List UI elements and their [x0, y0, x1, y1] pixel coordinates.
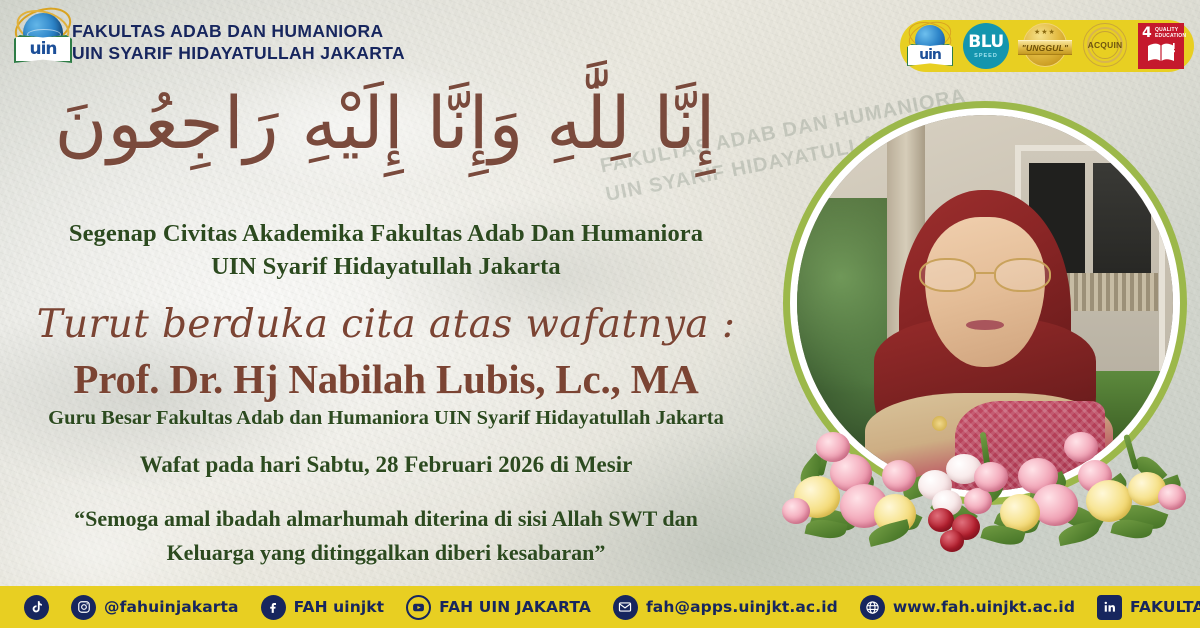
email-address: fah@apps.uinjkt.ac.id	[646, 598, 838, 616]
globe-icon[interactable]	[860, 595, 885, 620]
acquin-badge: ACQUIN	[1081, 23, 1129, 69]
unggul-ribbon: "UNGGUL"	[1018, 40, 1072, 55]
condolence-banner: FAKULTAS ADAB DAN HUMANIORA UIN SYARIF H…	[0, 0, 1200, 628]
unggul-stars-icon: ★★★	[1034, 28, 1056, 36]
institution-line-1: Segenap Civitas Akademika Fakultas Adab …	[0, 218, 772, 251]
sdg-quality-education-badge: 4 QUALITY EDUCATION	[1138, 23, 1184, 69]
sdg-label: QUALITY EDUCATION	[1155, 27, 1186, 40]
uin-logo-badge: uin	[906, 23, 954, 69]
faculty-title-block: FAKULTAS ADAB DAN HUMANIORA UIN SYARIF H…	[72, 20, 405, 65]
deceased-position: Guru Besar Fakultas Adab dan Humaniora U…	[0, 406, 772, 432]
passing-details: Wafat pada hari Sabtu, 28 Februari 2026 …	[0, 451, 772, 480]
footer-item-tiktok[interactable]	[24, 595, 49, 620]
youtube-icon[interactable]	[406, 595, 431, 620]
footer-item-email[interactable]: fah@apps.uinjkt.ac.id	[613, 595, 838, 620]
footer-item-website[interactable]: www.fah.uinjkt.ac.id	[860, 595, 1075, 620]
accreditation-badge-pill: uin BLU SPEED ★★★ "UNGGUL" ACQUIN 4	[900, 20, 1194, 72]
prayer-line-2: Keluarga yang ditinggalkan diberi kesaba…	[0, 536, 772, 569]
linkedin-icon[interactable]	[1097, 595, 1122, 620]
portrait-eyeglasses-icon	[919, 258, 1051, 292]
badge-uin-label: uin	[911, 47, 949, 63]
linkedin-page: FAKULTAS ADAB DAN HUMANIORA	[1130, 598, 1200, 616]
arabic-calligraphy: إِنَّا لِلَّٰهِ وَإِنَّا إِلَيْهِ رَاجِع…	[0, 82, 770, 165]
social-media-footer: @fahuinjakarta FAH uinjkt FAH UIN JAKART…	[0, 586, 1200, 628]
instagram-icon[interactable]	[71, 595, 96, 620]
youtube-channel: FAH UIN JAKARTA	[439, 598, 591, 616]
banner-header: uin FAKULTAS ADAB DAN HUMANIORA UIN SYAR…	[0, 0, 1200, 88]
prayer-line-1: “Semoga amal ibadah almarhumah diterina …	[0, 502, 772, 535]
footer-item-facebook[interactable]: FAH uinjkt	[261, 595, 385, 620]
institution-line-2: UIN Syarif Hidayatullah Jakarta	[0, 251, 772, 284]
university-name: UIN SYARIF HIDAYATULLAH JAKARTA	[72, 42, 405, 64]
unggul-label: "UNGGUL"	[1022, 43, 1069, 53]
logo-wordmark: uin	[20, 39, 66, 59]
blu-label: BLU	[968, 34, 1004, 51]
instagram-handle: @fahuinjakarta	[104, 598, 239, 616]
sdg-number: 4	[1142, 26, 1152, 40]
condolence-phrase: Turut berduka cita atas wafatnya :	[0, 303, 772, 347]
deceased-name: Prof. Dr. Hj Nabilah Lubis, Lc., MA	[0, 357, 772, 403]
footer-item-instagram[interactable]: @fahuinjakarta	[71, 595, 239, 620]
blu-sublabel: SPEED	[974, 53, 998, 59]
footer-item-youtube[interactable]: FAH UIN JAKARTA	[406, 595, 591, 620]
footer-item-linkedin[interactable]: FAKULTAS ADAB DAN HUMANIORA	[1097, 595, 1200, 620]
floral-wreath-decoration	[782, 432, 1194, 567]
sdg-open-book-icon	[1146, 42, 1176, 62]
tiktok-icon[interactable]	[24, 595, 49, 620]
faculty-name: FAKULTAS ADAB DAN HUMANIORA	[72, 20, 405, 42]
uin-logo-icon: uin	[12, 9, 74, 65]
portrait-mouth	[966, 320, 1004, 330]
unggul-badge: ★★★ "UNGGUL"	[1018, 23, 1072, 69]
website-url: www.fah.uinjkt.ac.id	[893, 598, 1075, 616]
blu-badge: BLU SPEED	[963, 23, 1009, 69]
facebook-handle: FAH uinjkt	[294, 598, 385, 616]
email-icon[interactable]	[613, 595, 638, 620]
condolence-message-block: Segenap Civitas Akademika Fakultas Adab …	[0, 218, 772, 569]
acquin-label: ACQUIN	[1081, 40, 1129, 50]
facebook-icon[interactable]	[261, 595, 286, 620]
